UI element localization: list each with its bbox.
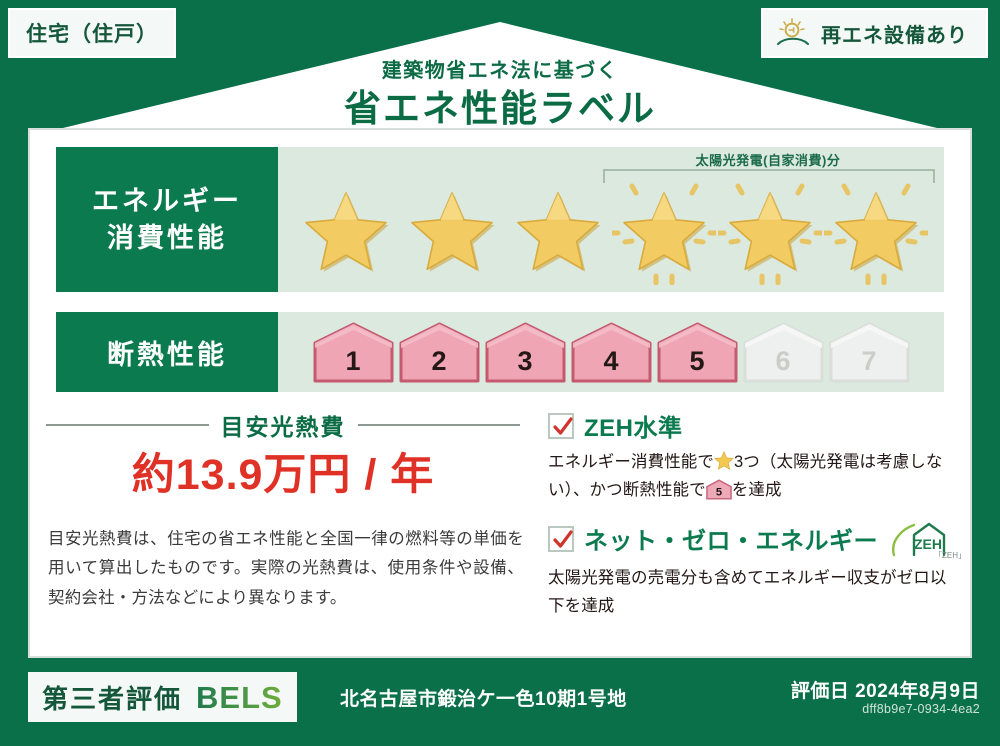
- evaluation-id: dff8b9e7-0934-4ea2: [862, 702, 980, 716]
- utility-cost-heading-text: 目安光熱費: [221, 408, 346, 442]
- evaluation-date: 評価日 2024年8月9日: [791, 676, 980, 703]
- zeh-standard-header: ZEH水準: [548, 408, 952, 443]
- zeh-desc-part-a: エネルギー消費性能で: [548, 453, 714, 471]
- title-main: 省エネ性能ラベル: [0, 86, 1000, 132]
- insulation-level-number: 7: [861, 346, 876, 383]
- star-4: [612, 181, 716, 281]
- checkmark-icon: [548, 413, 574, 439]
- insulation-level-number: 1: [345, 346, 360, 383]
- star-6: [824, 181, 928, 281]
- star-2: [400, 181, 504, 281]
- net-zero-energy-description: 太陽光発電の売電分も含めてエネルギー収支がゼロ以下を達成: [548, 564, 952, 621]
- insulation-level-3: 3: [484, 321, 567, 383]
- inline-insulation-level-icon: 5: [706, 479, 732, 500]
- energy-star-track: 太陽光発電(自家消費)分: [278, 147, 944, 292]
- insulation-level-4: 4: [570, 321, 653, 383]
- insulation-level-7: 7: [828, 321, 911, 383]
- badge-dwelling-label: 住宅（住戸）: [26, 23, 158, 46]
- badge-renewable-label: 再エネ設備あり: [821, 19, 968, 48]
- energy-performance-label: エネルギー 消費性能: [56, 147, 278, 292]
- zeh-standard-title: ZEH水準: [584, 408, 683, 443]
- property-address: 北名古屋市鍛治ケ一色10期1号地: [340, 684, 627, 711]
- insulation-level-track: 1 2 3 4 5 6 7: [278, 312, 944, 392]
- net-zero-energy-title: ネット・ゼロ・エネルギー: [584, 521, 878, 556]
- badge-renewable-equipment: 再エネ設備あり: [761, 8, 988, 58]
- badge-dwelling-type: 住宅（住戸）: [8, 8, 176, 58]
- heading-rule-right: [358, 424, 521, 426]
- utility-cost-value: 約13.9万円 / 年: [46, 440, 520, 502]
- zeh-logo-icon: ZEH 「ZEH」: [888, 519, 950, 559]
- inline-star-icon: [714, 451, 734, 470]
- zeh-criteria-block: ZEH水準 エネルギー消費性能で 3つ（太陽光発電は考慮しない）、かつ断熱性能で…: [548, 408, 952, 635]
- insulation-level-5: 5: [656, 321, 739, 383]
- title-subtitle: 建築物省エネ法に基づく: [0, 60, 1000, 82]
- energy-label-line1: エネルギー: [92, 183, 242, 219]
- label-title-block: 建築物省エネ法に基づく 省エネ性能ラベル: [0, 60, 1000, 132]
- solar-contribution-note: 太陽光発電(自家消費)分: [598, 150, 938, 169]
- insulation-level-number: 4: [603, 346, 618, 383]
- heading-rule-left: [46, 424, 209, 426]
- insulation-label-text: 断熱性能: [107, 333, 227, 372]
- energy-performance-label: 住宅（住戸） 再エネ設備あり 建築物省エネ法に基づく 省エネ性能ラベル: [0, 0, 1000, 746]
- star-5: [718, 181, 822, 281]
- energy-performance-row: エネルギー 消費性能 太陽光発電(自家消費)分: [56, 147, 944, 292]
- insulation-level-number: 2: [431, 346, 446, 383]
- insulation-performance-label: 断熱性能: [56, 312, 278, 392]
- zeh-standard-description: エネルギー消費性能で 3つ（太陽光発電は考慮しない）、かつ断熱性能で 5 を達成: [548, 448, 952, 505]
- zeh-logo-caption: 「ZEH」: [934, 550, 966, 561]
- checkmark-icon: [548, 526, 574, 552]
- utility-cost-heading: 目安光熱費: [46, 408, 520, 442]
- insulation-level-1: 1: [312, 321, 395, 383]
- insulation-level-2: 2: [398, 321, 481, 383]
- zeh-desc-part-c: を達成: [732, 481, 782, 499]
- net-zero-energy-item: ネット・ゼロ・エネルギー ZEH 「ZEH」 太陽光発電の売電分も含めてエネルギ…: [548, 519, 952, 621]
- insulation-level-number: 6: [775, 346, 790, 383]
- sun-icon: [775, 17, 811, 49]
- insulation-performance-row: 断熱性能 1 2 3 4 5: [56, 312, 944, 392]
- bels-certification-badge: 第三者評価 BELS: [28, 672, 297, 722]
- bels-japanese-label: 第三者評価: [42, 679, 182, 716]
- insulation-level-scale: 1 2 3 4 5 6 7: [278, 312, 944, 392]
- energy-label-line2: 消費性能: [107, 220, 227, 256]
- star-3: [506, 181, 610, 281]
- svg-text:5: 5: [716, 487, 722, 499]
- insulation-level-number: 3: [517, 346, 532, 383]
- insulation-level-number: 5: [689, 346, 704, 383]
- energy-star-rating: [278, 177, 944, 285]
- zeh-standard-item: ZEH水準 エネルギー消費性能で 3つ（太陽光発電は考慮しない）、かつ断熱性能で…: [548, 408, 952, 505]
- net-zero-energy-header: ネット・ゼロ・エネルギー ZEH 「ZEH」: [548, 519, 952, 559]
- star-1: [294, 181, 398, 281]
- utility-cost-disclaimer: 目安光熱費は、住宅の省エネ性能と全国一律の燃料等の単価を用いて算出したものです。…: [48, 525, 524, 613]
- bels-logo-text: BELS: [196, 680, 283, 716]
- insulation-level-6: 6: [742, 321, 825, 383]
- label-footer: 第三者評価 BELS 北名古屋市鍛治ケ一色10期1号地 評価日 2024年8月9…: [0, 658, 1000, 746]
